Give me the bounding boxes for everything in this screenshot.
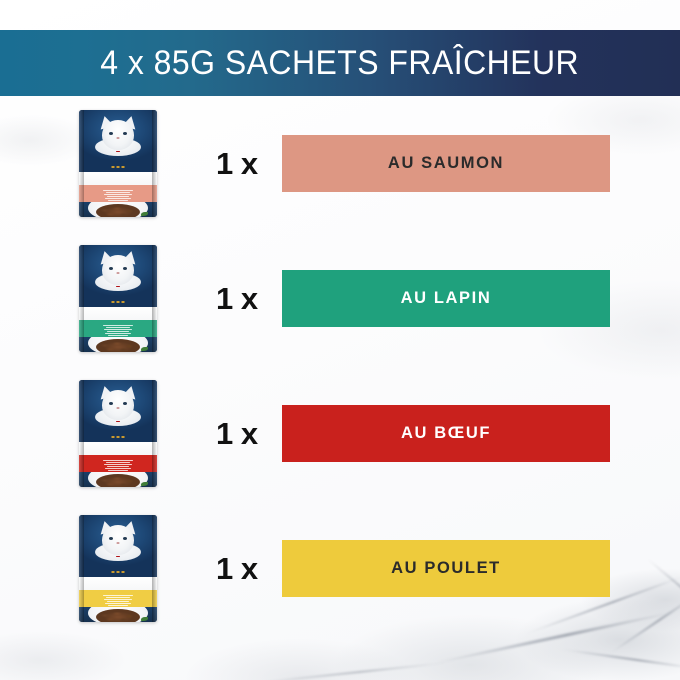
pouch-subbrand-band — [79, 577, 157, 591]
pouch-edge-left — [79, 380, 84, 487]
pouch-top-panel — [79, 380, 157, 444]
food-chunks — [96, 339, 140, 352]
flavour-rows: 1 x AU SAUMON — [0, 96, 680, 636]
cat-head-icon — [102, 525, 134, 555]
cat-nose-icon — [117, 272, 120, 274]
flavour-row-2: 1 x AU LAPIN — [0, 231, 680, 366]
quantity-label: 1 x — [216, 418, 258, 449]
garnish-leaf-icon — [141, 212, 148, 216]
cat-eye-left-icon — [109, 267, 113, 270]
pouch-edge-left — [79, 515, 84, 622]
pouch-edge-right — [152, 110, 157, 217]
persian-cat-icon — [98, 251, 138, 287]
food-chunks — [96, 204, 140, 217]
flavour-bar-4: AU POULET — [282, 540, 610, 597]
gourmet-accent-icon — [112, 571, 125, 573]
flavour-label: AU BŒUF — [401, 424, 491, 443]
pouch-edge-left — [79, 110, 84, 217]
pouch-top-panel — [79, 245, 157, 309]
persian-cat-icon — [98, 386, 138, 422]
pouch-top-panel — [79, 110, 157, 174]
pouch-edge-right — [152, 380, 157, 487]
pouch-artwork — [79, 515, 157, 622]
flavour-label: AU POULET — [391, 559, 501, 578]
persian-cat-icon — [98, 521, 138, 557]
product-pouch — [79, 245, 157, 352]
food-chunks — [96, 474, 140, 487]
pouch-subbrand-band — [79, 442, 157, 456]
pouch-artwork — [79, 245, 157, 352]
cat-eye-left-icon — [109, 402, 113, 405]
pouch-food-photo — [79, 472, 157, 487]
cat-eye-right-icon — [123, 132, 127, 135]
gourmet-accent-icon — [112, 436, 125, 438]
flavour-row-4: 1 x AU POULET — [0, 501, 680, 636]
pouch-top-panel — [79, 515, 157, 579]
purina-logo — [116, 421, 120, 422]
quantity-label: 1 x — [216, 283, 258, 314]
purina-logo — [116, 286, 120, 287]
flavour-label: AU SAUMON — [388, 154, 504, 173]
purina-logo — [116, 151, 120, 152]
gourmet-accent-icon — [112, 166, 125, 168]
pouch-artwork — [79, 110, 157, 217]
cat-eye-right-icon — [123, 537, 127, 540]
cat-nose-icon — [117, 542, 120, 544]
cat-nose-icon — [117, 137, 120, 139]
marble-vein — [250, 662, 449, 680]
title-banner: 4 x 85G SACHETS FRAÎCHEUR — [0, 30, 680, 96]
cat-nose-icon — [117, 407, 120, 409]
garnish-leaf-icon — [141, 482, 148, 486]
quantity-label: 1 x — [216, 148, 258, 179]
garnish-leaf-icon — [141, 617, 148, 621]
pouch-subbrand-band — [79, 172, 157, 186]
pouch-food-photo — [79, 202, 157, 217]
flavour-bar-3: AU BŒUF — [282, 405, 610, 462]
persian-cat-icon — [98, 116, 138, 152]
cat-head-icon — [102, 390, 134, 420]
quantity-label: 1 x — [216, 553, 258, 584]
cat-eye-left-icon — [109, 132, 113, 135]
product-pouch — [79, 515, 157, 622]
pouch-food-photo — [79, 607, 157, 622]
cat-head-icon — [102, 120, 134, 150]
pouch-subbrand-band — [79, 307, 157, 321]
pouch-edge-right — [152, 515, 157, 622]
flavour-row-1: 1 x AU SAUMON — [0, 96, 680, 231]
cat-head-icon — [102, 255, 134, 285]
product-pouch — [79, 380, 157, 487]
flavour-row-3: 1 x AU BŒUF — [0, 366, 680, 501]
marble-vein — [561, 648, 680, 669]
cat-eye-left-icon — [109, 537, 113, 540]
flavour-bar-1: AU SAUMON — [282, 135, 610, 192]
food-chunks — [96, 609, 140, 622]
product-infographic: 4 x 85G SACHETS FRAÎCHEUR — [0, 0, 680, 680]
product-pouch — [79, 110, 157, 217]
garnish-leaf-icon — [141, 347, 148, 351]
pouch-edge-left — [79, 245, 84, 352]
flavour-label: AU LAPIN — [401, 289, 492, 308]
pouch-edge-right — [152, 245, 157, 352]
flavour-bar-2: AU LAPIN — [282, 270, 610, 327]
banner-title: 4 x 85G SACHETS FRAÎCHEUR — [101, 44, 580, 83]
cat-eye-right-icon — [123, 267, 127, 270]
purina-logo — [116, 556, 120, 557]
cat-eye-right-icon — [123, 402, 127, 405]
gourmet-accent-icon — [112, 301, 125, 303]
pouch-food-photo — [79, 337, 157, 352]
pouch-artwork — [79, 380, 157, 487]
